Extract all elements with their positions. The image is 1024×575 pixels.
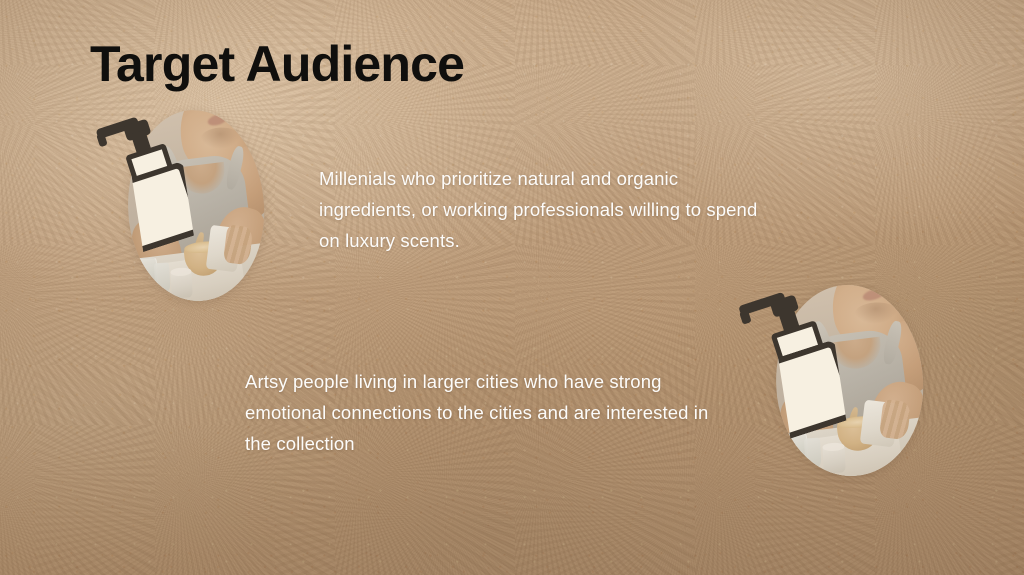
collage-bottom-right	[776, 285, 923, 476]
body-paragraph-1: Millenials who prioritize natural and or…	[319, 163, 764, 256]
page-title: Target Audience	[90, 38, 464, 91]
slide-canvas: Target Audience	[0, 0, 1024, 575]
collage-top-left	[128, 110, 264, 301]
body-paragraph-2: Artsy people living in larger cities who…	[245, 366, 725, 459]
